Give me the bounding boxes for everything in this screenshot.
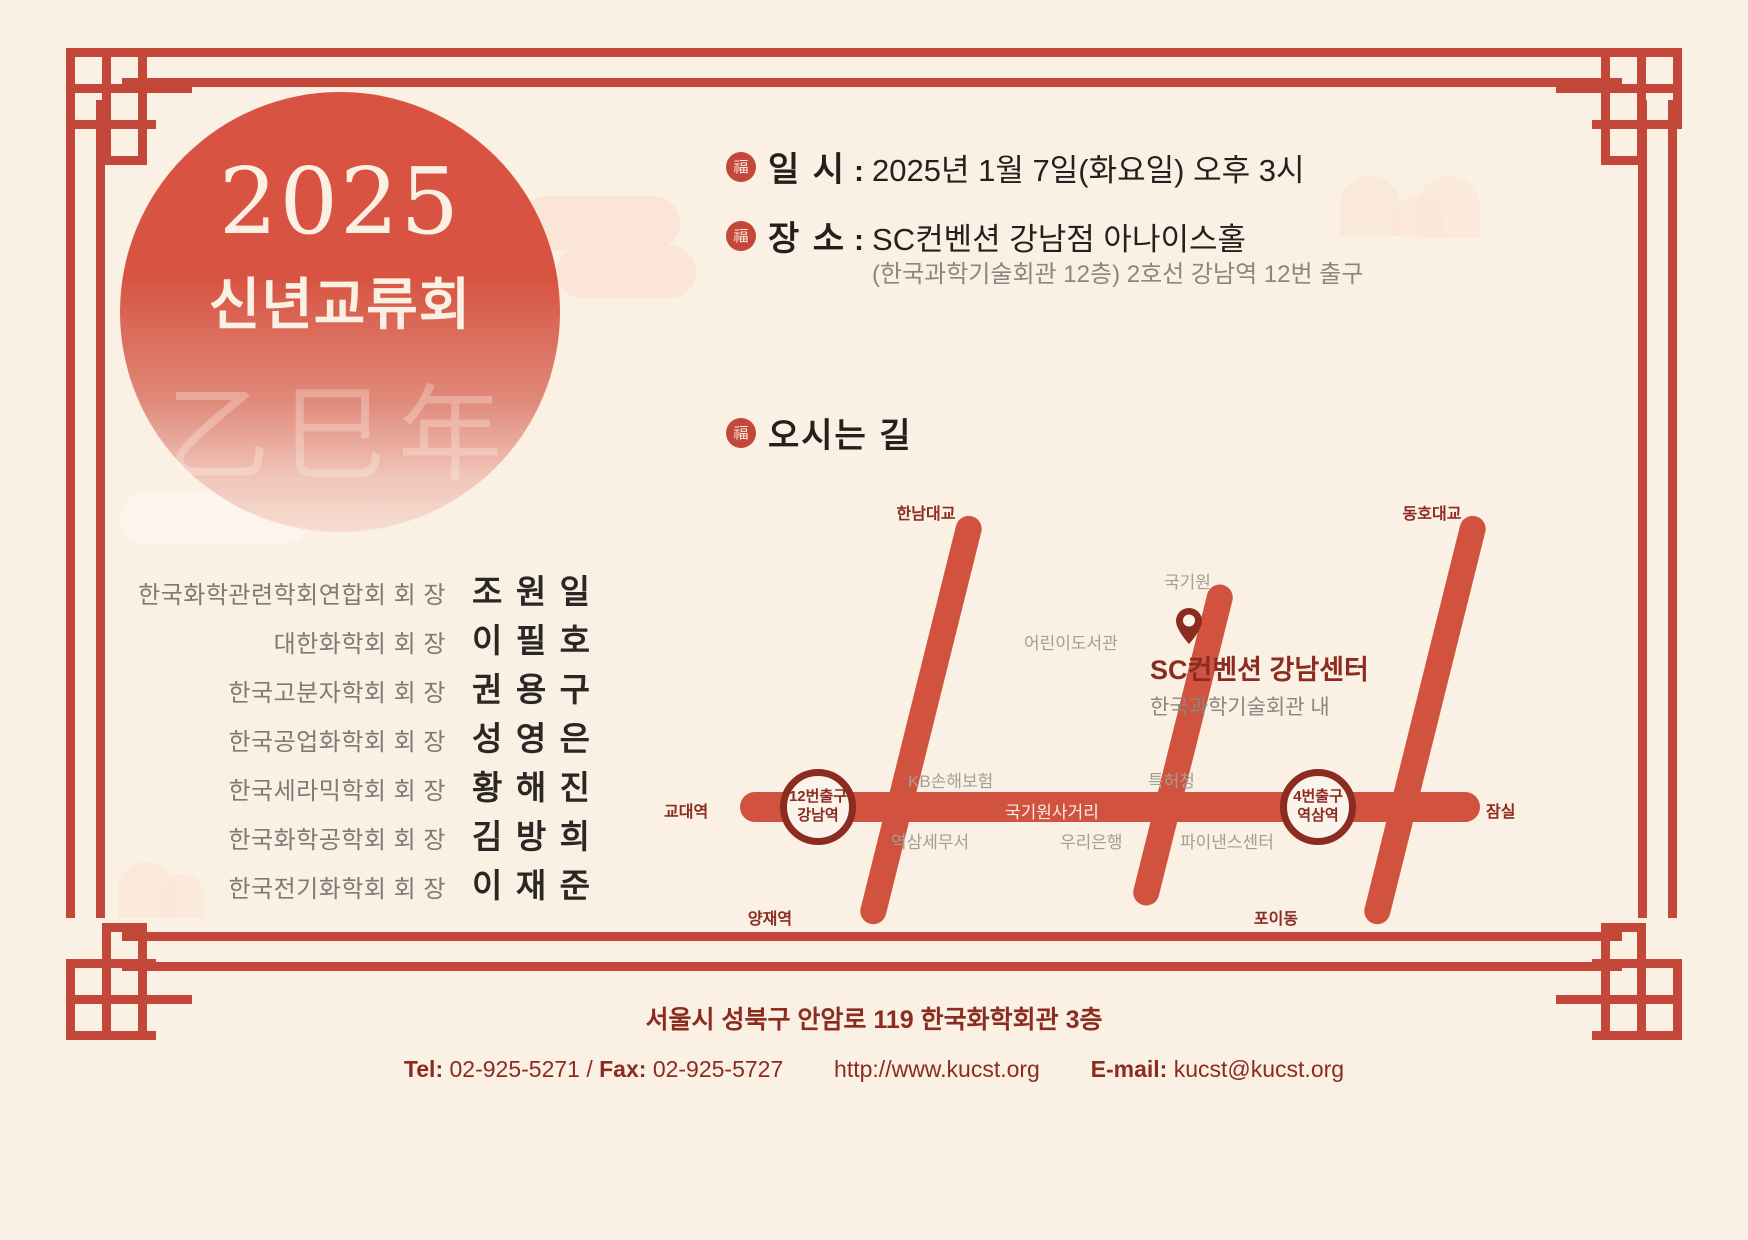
station-exit-label: 4번출구	[1293, 788, 1343, 807]
officer-name: 성 영 은	[472, 712, 590, 760]
officer-name-char: 성	[472, 712, 502, 760]
contact-separator: /	[586, 1056, 592, 1082]
officer-name-char: 호	[560, 614, 590, 662]
officer-name-char: 필	[516, 614, 546, 662]
place-label: 장 소	[768, 211, 846, 260]
footer-contact: Tel: 02-925-5271 / Fax: 02-925-5727 http…	[0, 1056, 1748, 1083]
list-item: 한국화학공학회 회 장 김 방 희	[120, 810, 590, 859]
officer-org: 한국고분자학회 회 장	[228, 673, 446, 708]
map-endpoint-jamsil: 잠실	[1486, 798, 1515, 822]
frame-right-inner	[1638, 100, 1647, 918]
officer-name-char: 이	[472, 859, 502, 907]
fax-label: Fax:	[599, 1056, 646, 1082]
map-road-dongho	[1362, 513, 1489, 927]
map-station-yeoksam[interactable]: 4번출구 역삼역	[1280, 769, 1356, 845]
frame-bottom	[122, 962, 1622, 971]
list-item: 한국세라믹학회 회 장 황 해 진	[120, 761, 590, 810]
map-endpoint-hannam: 한남대교	[897, 500, 956, 524]
info-row-place: 福 장 소 : SC컨벤션 강남점 아나이스홀	[726, 211, 1586, 260]
map-poi-crossroad: 국기원사거리	[1005, 798, 1099, 823]
footer: 서울시 성북구 안암로 119 한국화학회관 3층 Tel: 02-925-52…	[0, 1000, 1748, 1083]
fax-value: 02-925-5727	[653, 1056, 783, 1082]
officer-name: 권 용 구	[472, 663, 590, 711]
frame-right	[1668, 100, 1677, 918]
hero-title: 신년교류회	[120, 260, 560, 341]
email-link[interactable]: kucst@kucst.org	[1174, 1056, 1344, 1082]
officer-name-char: 해	[516, 761, 546, 809]
list-item: 대한화학회 회 장 이 필 호	[120, 614, 590, 663]
map-poi-library: 어린이도서관	[1024, 629, 1118, 654]
officer-name-char: 진	[560, 761, 590, 809]
officer-name-char: 방	[516, 810, 546, 858]
officer-org: 한국공업화학회 회 장	[228, 722, 446, 757]
directions-label: 오시는 길	[768, 408, 913, 457]
officer-name-char: 영	[516, 712, 546, 760]
frame-top-inner	[122, 78, 1622, 87]
map-poi-finance-center: 파이낸스센터	[1180, 828, 1274, 853]
map-poi-kb: KB손해보험	[908, 767, 993, 792]
officer-org: 대한화학회 회 장	[274, 624, 446, 659]
bok-seal-icon: 福	[726, 221, 756, 251]
officer-org: 한국세라믹학회 회 장	[228, 771, 446, 806]
cloud-decor-2	[556, 246, 696, 298]
hero-circle: 乙巳年 2025 신년교류회	[120, 92, 560, 532]
officer-name-char: 권	[472, 663, 502, 711]
venue-name: SC컨벤션 강남센터	[1150, 648, 1369, 687]
map-poi-woori-bank: 우리은행	[1060, 828, 1123, 853]
officer-name-char: 원	[516, 565, 546, 613]
frame-left-inner	[96, 100, 105, 918]
hero-zodiac: 乙巳年	[120, 350, 560, 501]
location-map: 한남대교 동호대교 교대역 잠실 양재역 포이동 국기원 어린이도서관 KB손해…	[640, 480, 1520, 940]
frame-left	[66, 100, 75, 918]
officer-name-char: 희	[560, 810, 590, 858]
map-poi-tax-office: 역삼세무서	[891, 828, 969, 853]
officer-name-char: 재	[516, 859, 546, 907]
map-endpoint-dongho: 동호대교	[1403, 500, 1462, 524]
bok-seal-icon: 福	[726, 418, 756, 448]
officer-org: 한국화학공학회 회 장	[228, 820, 446, 855]
info-row-date: 福 일 시 : 2025년 1월 7일(화요일) 오후 3시	[726, 142, 1586, 191]
map-endpoint-gyodae: 교대역	[664, 798, 708, 822]
date-label: 일 시	[768, 142, 846, 191]
list-item: 한국전기화학회 회 장 이 재 준	[120, 859, 590, 908]
website-link[interactable]: http://www.kucst.org	[834, 1056, 1040, 1082]
officer-name-char: 준	[560, 859, 590, 907]
frame-top	[122, 48, 1622, 57]
tel-value: 02-925-5271	[450, 1056, 580, 1082]
list-item: 한국공업화학회 회 장 성 영 은	[120, 712, 590, 761]
list-item: 한국고분자학회 회 장 권 용 구	[120, 663, 590, 712]
officer-name-char: 이	[472, 614, 502, 662]
map-poi-gukgiwon: 국기원	[1164, 568, 1211, 593]
officer-name-char: 조	[472, 565, 502, 613]
footer-address: 서울시 성북구 안암로 119 한국화학회관 3층	[0, 1000, 1748, 1036]
officer-name: 이 필 호	[472, 614, 590, 662]
officer-name: 조 원 일	[472, 565, 590, 613]
station-exit-label: 12번출구	[789, 788, 847, 807]
officer-name-char: 김	[472, 810, 502, 858]
officer-name-char: 용	[516, 663, 546, 711]
officer-name-char: 일	[560, 565, 590, 613]
officers-list: 한국화학관련학회연합회 회 장 조 원 일 대한화학회 회 장 이 필 호 한국…	[120, 565, 590, 908]
tel-label: Tel:	[404, 1056, 443, 1082]
officer-org: 한국전기화학회 회 장	[228, 869, 446, 904]
station-name-label: 역삼역	[1297, 807, 1338, 826]
hero-year: 2025	[120, 148, 560, 255]
station-name-label: 강남역	[797, 807, 838, 826]
date-value: 2025년 1월 7일(화요일) 오후 3시	[872, 145, 1304, 190]
place-colon: :	[854, 224, 864, 258]
event-info: 福 일 시 : 2025년 1월 7일(화요일) 오후 3시 福 장 소 : S…	[726, 142, 1586, 289]
list-item: 한국화학관련학회연합회 회 장 조 원 일	[120, 565, 590, 614]
officer-name: 황 해 진	[472, 761, 590, 809]
officer-name-char: 황	[472, 761, 502, 809]
officer-name: 김 방 희	[472, 810, 590, 858]
map-endpoint-poidong: 포이동	[1254, 905, 1298, 929]
officer-name: 이 재 준	[472, 859, 590, 907]
place-sub-value: (한국과학기술회관 12층) 2호선 강남역 12번 출구	[872, 254, 1586, 289]
officer-org: 한국화학관련학회연합회 회 장	[138, 575, 446, 610]
officer-name-char: 은	[560, 712, 590, 760]
map-pin-icon	[1176, 608, 1202, 649]
officer-name-char: 구	[560, 663, 590, 711]
place-value: SC컨벤션 강남점 아나이스홀	[872, 214, 1246, 259]
date-colon: :	[854, 155, 864, 189]
map-endpoint-yangjae: 양재역	[748, 905, 792, 929]
directions-heading: 福 오시는 길	[726, 408, 913, 457]
map-road-hannam	[858, 513, 985, 927]
venue-sub: 한국과학기술회관 내	[1150, 691, 1369, 721]
bok-seal-icon: 福	[726, 152, 756, 182]
map-venue-label: SC컨벤션 강남센터 한국과학기술회관 내	[1150, 648, 1369, 721]
map-station-gangnam[interactable]: 12번출구 강남역	[780, 769, 856, 845]
email-label: E-mail:	[1091, 1056, 1168, 1082]
map-poi-patent: 특허청	[1148, 767, 1195, 792]
poster-root: 乙巳年 2025 신년교류회 福 일 시 : 2025년 1월 7일(화요일) …	[0, 0, 1748, 1240]
